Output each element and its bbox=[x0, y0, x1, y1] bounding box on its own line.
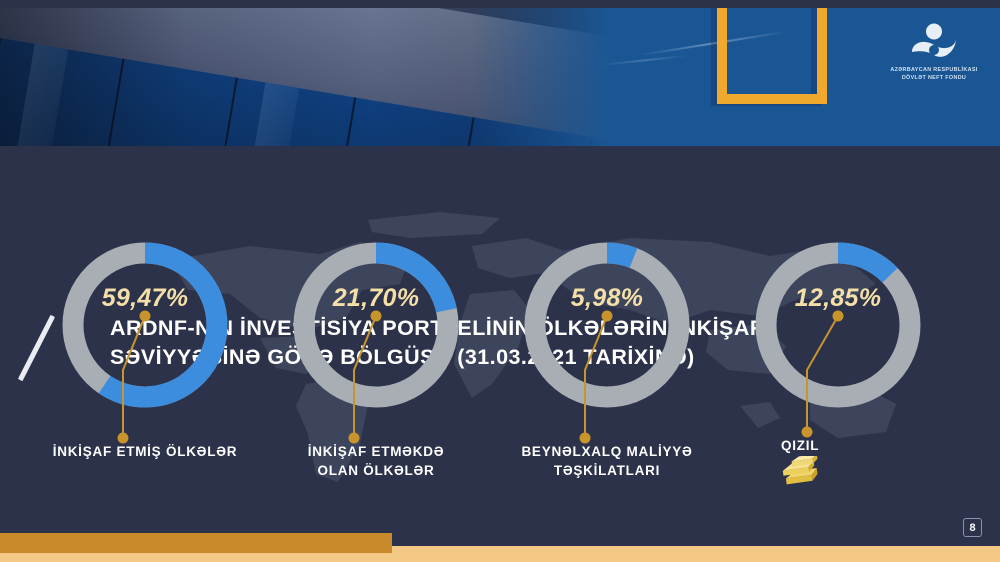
header-building-photo bbox=[0, 0, 620, 146]
leader-line-4 bbox=[713, 146, 963, 562]
slide-body: ARDNF-NİN İNVESTİSİYA PORTFELİNİN ÖLKƏLƏ… bbox=[0, 146, 1000, 562]
leader-line-1 bbox=[20, 146, 270, 562]
footer-bar-light bbox=[392, 546, 1000, 562]
page-number-badge: 8 bbox=[963, 518, 982, 537]
sofaz-emblem-icon bbox=[908, 22, 960, 64]
donut-chart-group: 59,47% İNKİŞAF ETMİŞ ÖLKƏLƏR bbox=[0, 146, 1000, 562]
donut-chart-1: 59,47% İNKİŞAF ETMİŞ ÖLKƏLƏR bbox=[20, 146, 270, 562]
donut-label-3: BEYNƏLXALQ MALİYYƏ TƏŞKİLATLARI bbox=[482, 442, 732, 480]
slide-header: AZƏRBAYCAN RESPUBLİKASI DÖVLƏT NEFT FOND… bbox=[0, 0, 1000, 146]
gold-bracket-accent bbox=[717, 0, 827, 104]
building-fade bbox=[470, 0, 620, 146]
sofaz-logo: AZƏRBAYCAN RESPUBLİKASI DÖVLƏT NEFT FOND… bbox=[874, 22, 994, 94]
logo-organization-text: AZƏRBAYCAN RESPUBLİKASI DÖVLƏT NEFT FOND… bbox=[874, 67, 994, 83]
footer-bar-dark bbox=[0, 533, 392, 553]
donut-label-1: İNKİŞAF ETMİŞ ÖLKƏLƏR bbox=[20, 442, 270, 461]
donut-label-2: İNKİŞAF ETMƏKDƏ OLAN ÖLKƏLƏR bbox=[251, 442, 501, 480]
slide-root: AZƏRBAYCAN RESPUBLİKASI DÖVLƏT NEFT FOND… bbox=[0, 0, 1000, 562]
leader-line-2 bbox=[251, 146, 501, 562]
donut-label-4: QIZIL bbox=[713, 436, 963, 455]
gold-bars-icon bbox=[713, 456, 963, 491]
donut-chart-3: 5,98% BEYNƏLXALQ MALİYYƏ TƏŞKİLATLARI bbox=[482, 146, 732, 562]
donut-chart-4: 12,85% QIZIL bbox=[713, 146, 963, 562]
leader-line-3 bbox=[482, 146, 732, 562]
donut-chart-2: 21,70% İNKİŞAF ETMƏKDƏ OLAN ÖLKƏLƏR bbox=[251, 146, 501, 562]
header-top-strip bbox=[0, 0, 1000, 8]
